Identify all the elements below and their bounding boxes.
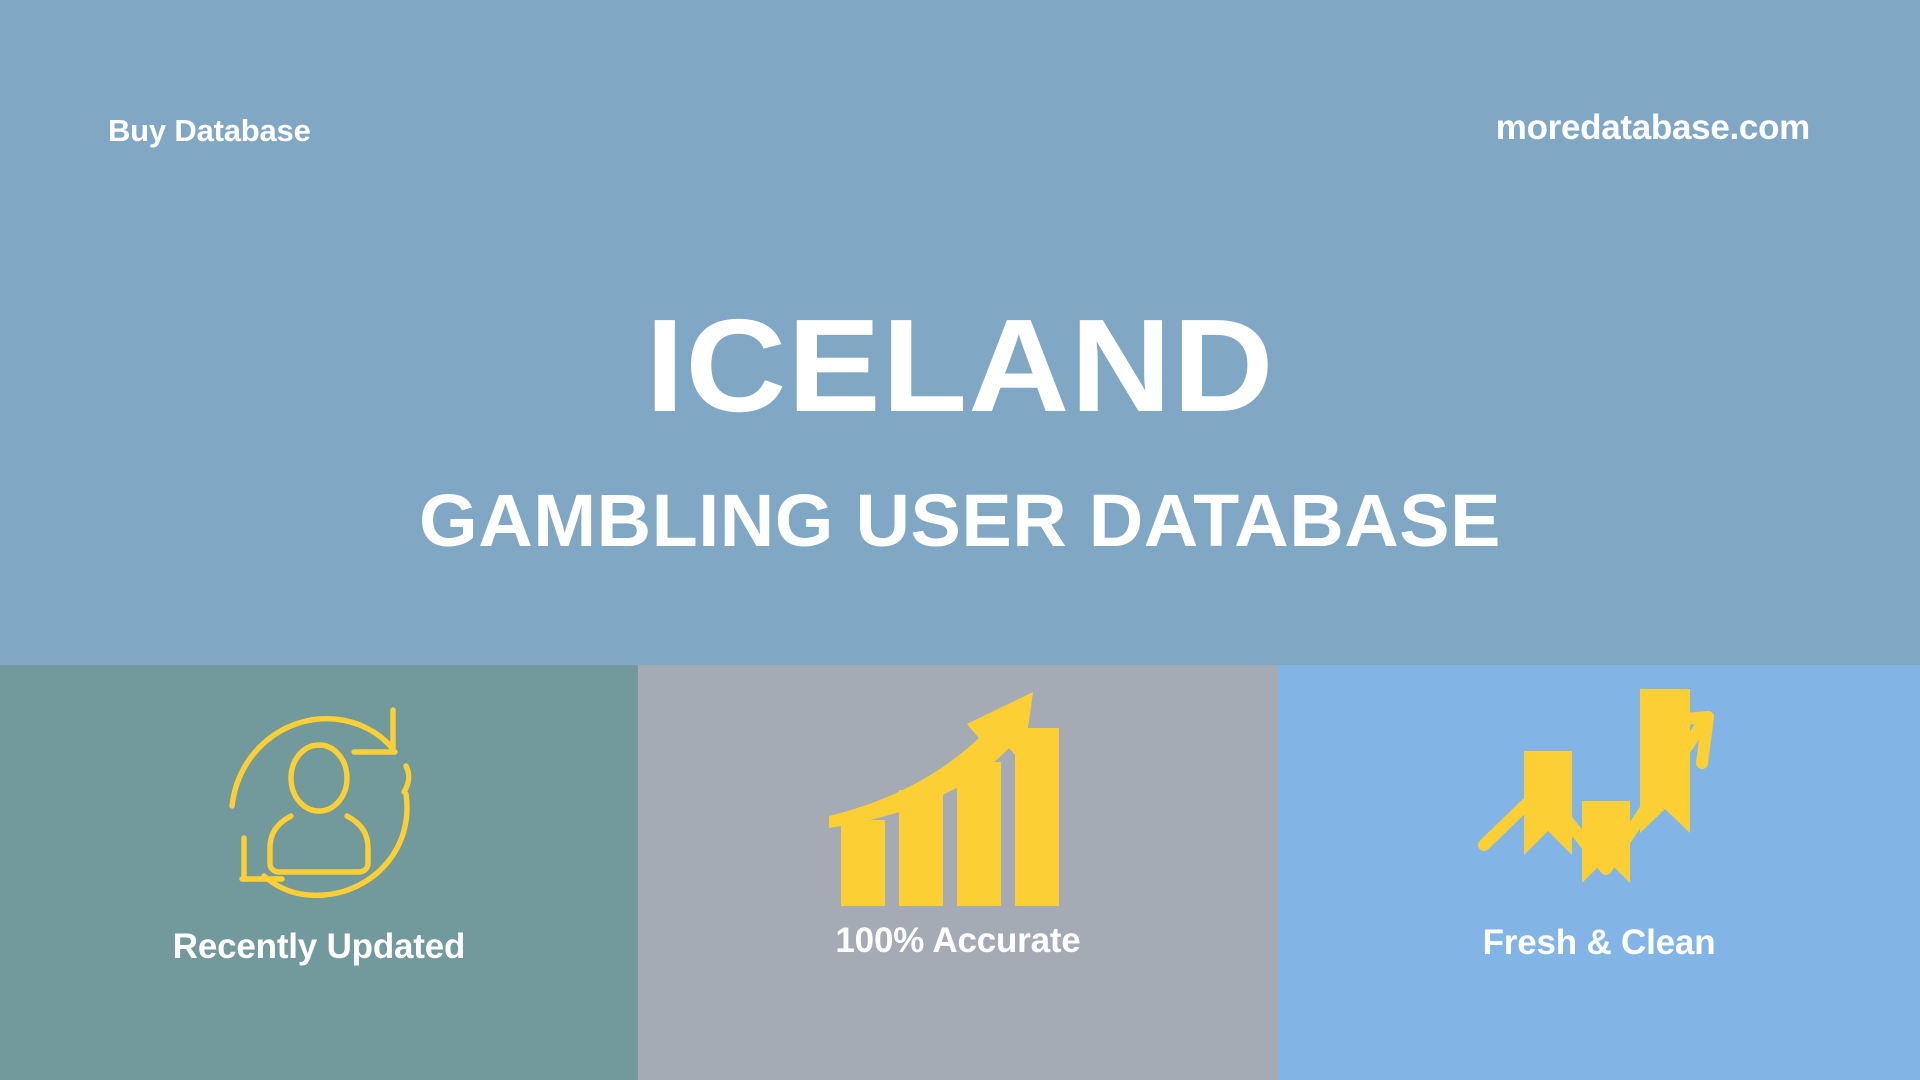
- feature-panel-recently-updated: Recently Updated: [0, 665, 638, 1080]
- feature-caption-recently-updated: Recently Updated: [173, 927, 465, 967]
- database-subtitle: GAMBLING USER DATABASE: [0, 484, 1920, 558]
- title-stack: ICELAND GAMBLING USER DATABASE: [0, 300, 1920, 558]
- site-url-label: moredatabase.com: [1496, 108, 1810, 148]
- feature-panel-100-accurate: 100% Accurate: [638, 665, 1278, 1080]
- poster-canvas: Buy Database moredatabase.com ICELAND GA…: [0, 0, 1920, 1080]
- brand-label: Buy Database: [108, 113, 311, 149]
- feature-caption-fresh-clean: Fresh & Clean: [1483, 923, 1716, 963]
- bar-chart-zigzag-arrow-icon: [1468, 683, 1730, 913]
- country-title: ICELAND: [0, 300, 1920, 432]
- feature-row: Recently Updated 100% Accurate: [0, 665, 1920, 1080]
- user-refresh-cycle-icon: [188, 687, 450, 917]
- header-band: Buy Database moredatabase.com ICELAND GA…: [0, 0, 1920, 665]
- bar-chart-growth-arrow-icon: [827, 681, 1089, 911]
- feature-panel-fresh-clean: Fresh & Clean: [1278, 665, 1920, 1080]
- feature-caption-100-accurate: 100% Accurate: [835, 921, 1080, 961]
